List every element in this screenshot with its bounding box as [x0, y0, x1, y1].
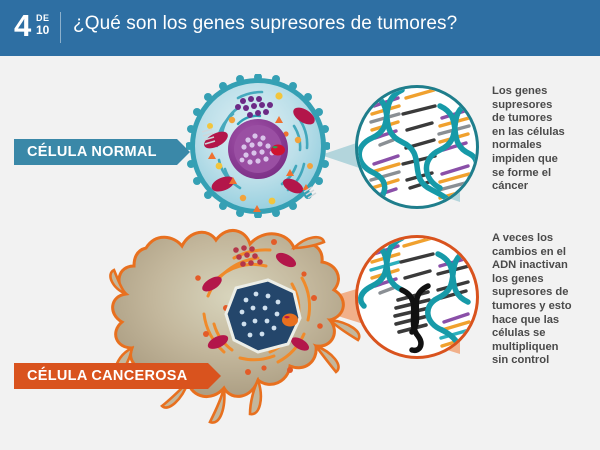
header-divider: [60, 12, 61, 43]
damaged-dna-helix-circle: [355, 235, 479, 359]
cell-nucleus: [228, 119, 288, 179]
description-cancer-cell: A veces los cambios en el ADN inactivan …: [492, 232, 578, 368]
description-normal-cell: Los genes supresores de tumores en las c…: [492, 85, 578, 194]
infographic-canvas: 4 DE 10 ¿Qué son los genes supresores de…: [0, 0, 600, 450]
step-number: 4: [14, 9, 31, 43]
page-title: ¿Qué son los genes supresores de tumores…: [73, 13, 457, 35]
step-total: 10: [36, 25, 50, 36]
banner-arrow-tip-cancer: [208, 363, 221, 389]
cancer-cell-diagram: [108, 222, 398, 432]
header-bar: 4 DE 10 ¿Qué son los genes supresores de…: [0, 0, 600, 56]
banner-arrow-tip-normal: [177, 139, 190, 165]
normal-cell-diagram: [186, 74, 330, 218]
label-cancer-cell: CÉLULA CANCEROSA: [14, 363, 208, 389]
cancer-cell-nucleus: [226, 280, 300, 352]
label-normal-cell-text: CÉLULA NORMAL: [27, 144, 157, 160]
label-cancer-cell-text: CÉLULA CANCEROSA: [27, 368, 188, 384]
intact-dna-helix: [358, 88, 476, 206]
label-normal-cell: CÉLULA NORMAL: [14, 139, 177, 165]
step-fraction: DE 10: [36, 13, 50, 36]
gene-marker: [271, 145, 285, 156]
intact-dna-helix-circle: [355, 85, 479, 209]
damaged-dna-helix: [358, 238, 476, 356]
mutated-gene-marker: [282, 314, 298, 327]
